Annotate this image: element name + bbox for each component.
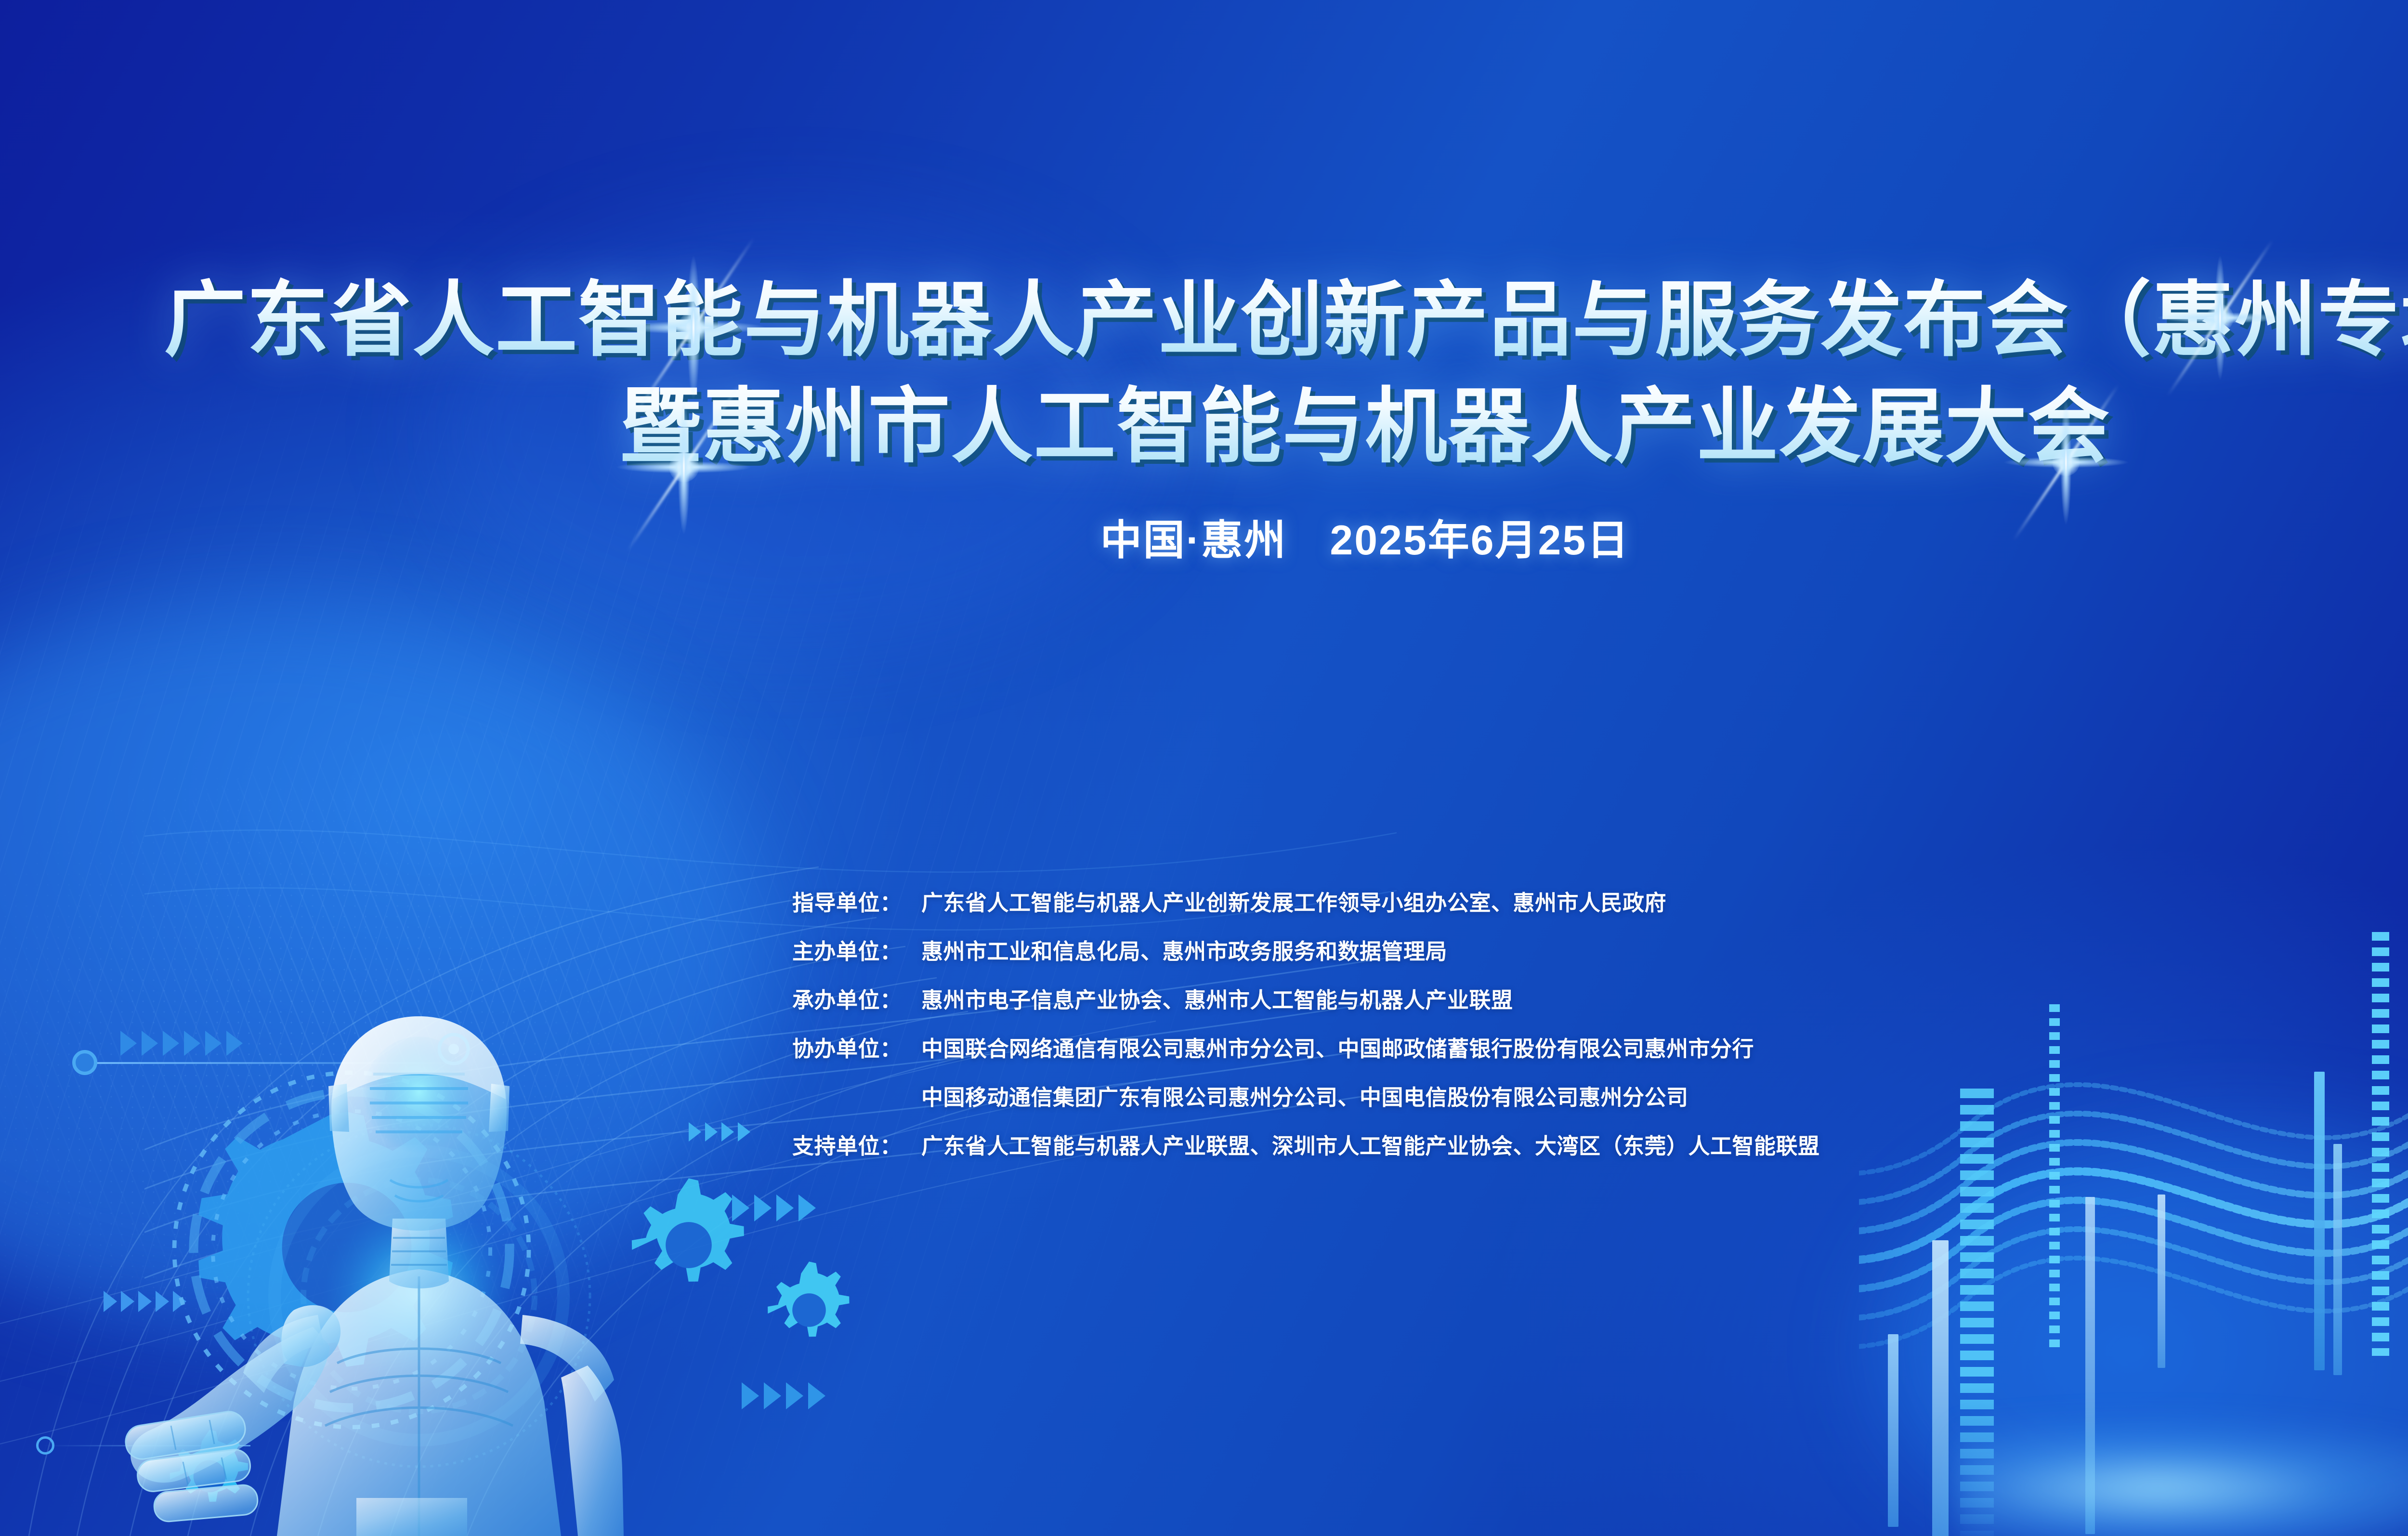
organizer-label: 承办单位： — [792, 983, 921, 1014]
gear-small-icon — [751, 1252, 867, 1368]
eq-bar-solid-5 — [2314, 1072, 2325, 1370]
eq-bar-segmented-2 — [2049, 1004, 2060, 1351]
conference-banner: AI 广东省人工智能与机器人产业创新产品与服务发布会（惠州专场） 暨惠州市人工智… — [0, 0, 2408, 1536]
subtitle-location-date: 中国·惠州 2025年6月25日 — [0, 506, 2408, 566]
robot-figure — [87, 930, 732, 1536]
chevron-arrows-bottom-mid — [742, 1382, 825, 1409]
organizer-label: 主办单位： — [792, 934, 921, 965]
organizer-row-coorganizer: 协办单位： 中国联合网络通信有限公司惠州市分公司、中国邮政储蓄银行股份有限公司惠… — [792, 1031, 1820, 1063]
organizer-row-undertaker: 承办单位： 惠州市电子信息产业协会、惠州市人工智能与机器人产业联盟 — [792, 983, 1820, 1014]
organizer-value: 惠州市电子信息产业协会、惠州市人工智能与机器人产业联盟 — [921, 983, 1513, 1014]
title-line-2: 暨惠州市人工智能与机器人产业发展大会 — [0, 374, 2408, 480]
title-block: 广东省人工智能与机器人产业创新产品与服务发布会（惠州专场） 暨惠州市人工智能与机… — [0, 267, 2408, 566]
organizer-label: 协办单位： — [792, 1031, 921, 1063]
node-dot-icon-2 — [36, 1436, 54, 1455]
organizer-label: 支持单位： — [792, 1129, 921, 1160]
ai-base-glow — [1955, 1416, 2408, 1536]
eq-bar-solid-2 — [1932, 1240, 1949, 1536]
organizer-row-coorganizer-continued: 协办单位： 中国移动通信集团广东有限公司惠州分公司、中国电信股份有限公司惠州分公… — [792, 1080, 1820, 1111]
organizer-label: 指导单位： — [792, 885, 921, 917]
organizer-row-host: 主办单位： 惠州市工业和信息化局、惠州市政务服务和数据管理局 — [792, 934, 1820, 965]
organizer-value: 广东省人工智能与机器人产业创新发展工作领导小组办公室、惠州市人民政府 — [921, 885, 1666, 917]
organizer-row-supporter: 支持单位： 广东省人工智能与机器人产业联盟、深圳市人工智能产业协会、大湾区（东莞… — [792, 1129, 1820, 1160]
eq-bar-segmented-3 — [2372, 932, 2389, 1356]
eq-bar-solid-4 — [2158, 1195, 2165, 1368]
title-line-1: 广东省人工智能与机器人产业创新产品与服务发布会（惠州专场） — [0, 267, 2408, 374]
organizer-value: 广东省人工智能与机器人产业联盟、深圳市人工智能产业协会、大湾区（东莞）人工智能联… — [921, 1129, 1820, 1160]
organizer-row-guidance: 指导单位： 广东省人工智能与机器人产业创新发展工作领导小组办公室、惠州市人民政府 — [792, 885, 1820, 917]
eq-bar-solid-1 — [1888, 1334, 1898, 1527]
eq-bar-solid-6 — [2333, 1144, 2342, 1375]
organizer-value: 中国联合网络通信有限公司惠州市分公司、中国邮政储蓄银行股份有限公司惠州市分行 — [921, 1031, 1754, 1063]
ai-visual-scene: AI — [1859, 881, 2408, 1536]
organizer-value: 中国移动通信集团广东有限公司惠州分公司、中国电信股份有限公司惠州分公司 — [921, 1080, 1688, 1111]
organizer-value: 惠州市工业和信息化局、惠州市政务服务和数据管理局 — [921, 934, 1447, 965]
organizer-list: 指导单位： 广东省人工智能与机器人产业创新发展工作领导小组办公室、惠州市人民政府… — [792, 885, 1820, 1160]
